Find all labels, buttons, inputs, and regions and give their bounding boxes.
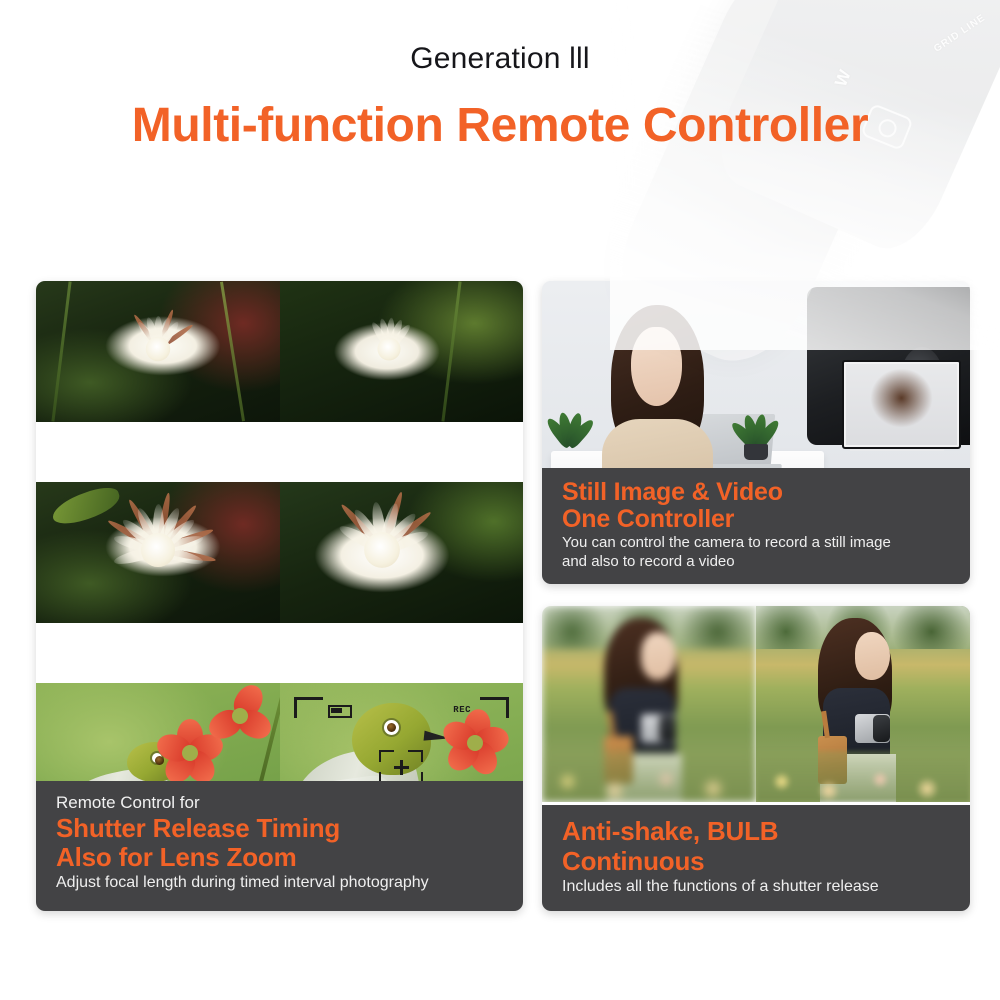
caption-still-image-and-video: Still Image & Video One Controller You c… bbox=[542, 468, 970, 584]
panel-shutter-release-timing: W bbox=[36, 281, 523, 911]
generation-label: Generation lll bbox=[0, 42, 1000, 76]
panel-anti-shake: Anti-shake, BULB Continuous Includes all… bbox=[542, 606, 970, 911]
product-infographic: LOCK SET GRID LINE W Generation lll Mult… bbox=[0, 0, 1000, 1000]
photo-cereus-bud-2 bbox=[280, 281, 524, 422]
photo-stabilized-sharp bbox=[756, 606, 970, 802]
caption-headline-line1: Shutter Release Timing bbox=[56, 814, 507, 843]
caption-headline-line2: One Controller bbox=[562, 506, 954, 533]
photo-cereus-bloom-1 bbox=[36, 482, 280, 623]
page-title: Multi-function Remote Controller bbox=[0, 98, 1000, 153]
header: Generation lll Multi-function Remote Con… bbox=[0, 0, 1000, 270]
panel-still-image-and-video: Still Image & Video One Controller You c… bbox=[542, 281, 970, 584]
caption-subtext-line2: and also to record a video bbox=[562, 552, 954, 571]
caption-headline-line2: Also for Lens Zoom bbox=[56, 843, 507, 872]
caption-shutter-release: Remote Control for Shutter Release Timin… bbox=[36, 781, 523, 911]
caption-headline-line1: Still Image & Video bbox=[562, 479, 954, 506]
caption-subtext-line1: You can control the camera to record a s… bbox=[562, 533, 954, 552]
caption-subtext: Adjust focal length during timed interva… bbox=[56, 872, 507, 893]
caption-subtext: Includes all the functions of a shutter … bbox=[562, 876, 954, 898]
caption-headline-line2: Continuous bbox=[562, 846, 954, 876]
caption-pre-label: Remote Control for bbox=[56, 792, 507, 814]
photo-cereus-bloom-2 bbox=[280, 482, 524, 623]
photo-cereus-bud-1 bbox=[36, 281, 280, 422]
caption-anti-shake: Anti-shake, BULB Continuous Includes all… bbox=[542, 805, 970, 911]
anti-shake-comparison bbox=[542, 606, 970, 802]
caption-headline-line1: Anti-shake, BULB bbox=[562, 816, 954, 846]
photo-blurred-handheld bbox=[542, 606, 756, 802]
